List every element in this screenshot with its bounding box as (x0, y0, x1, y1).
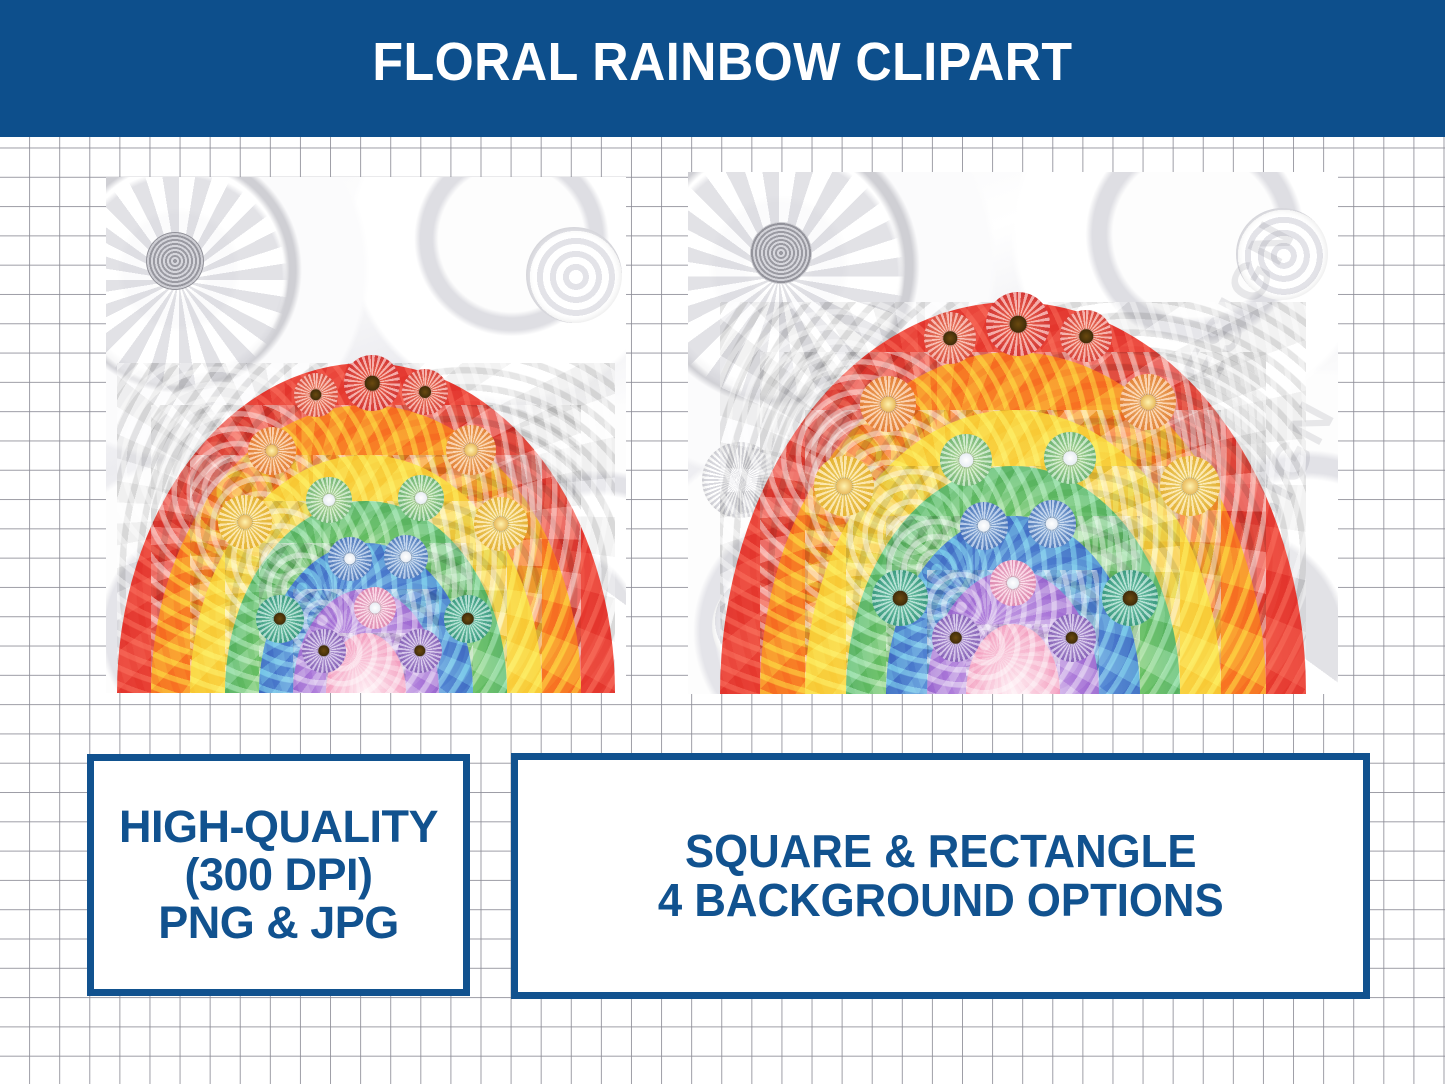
flower-blossom (344, 355, 400, 411)
options-line-1: SQUARE & RECTANGLE (658, 827, 1224, 876)
quality-line-2: (300 DPI) (119, 851, 438, 899)
flower-blossom (384, 535, 428, 579)
flower-blossom (474, 497, 528, 551)
flower-blossom (302, 629, 346, 673)
flower-blossom (960, 502, 1008, 550)
flower-blossom (1048, 614, 1096, 662)
quality-line-3: PNG & JPG (119, 899, 438, 947)
square-preview-image[interactable] (106, 177, 626, 693)
flower-blossom (814, 456, 874, 516)
flower-blossom (402, 369, 448, 415)
flower-blossom (990, 560, 1036, 606)
flower-blossom (328, 537, 372, 581)
flower-blossom (294, 373, 338, 417)
options-text-block: SQUARE & RECTANGLE 4 BACKGROUND OPTIONS (658, 827, 1224, 925)
flower-blossom (932, 614, 980, 662)
flower-blossom (872, 570, 928, 626)
flower-blossom (398, 475, 444, 521)
flower-blossom (1028, 500, 1076, 548)
flower-blossom (1120, 374, 1176, 430)
flower-blossom (306, 477, 352, 523)
feature-box-options: SQUARE & RECTANGLE 4 BACKGROUND OPTIONS (511, 753, 1370, 999)
rectangle-preview-image[interactable]: DESIGN DESIGN (688, 172, 1338, 694)
quality-line-1: HIGH-QUALITY (119, 803, 438, 851)
flower-blossom (1044, 432, 1096, 484)
flower-blossom (248, 427, 296, 475)
flower-blossom (444, 595, 492, 643)
quality-text-block: HIGH-QUALITY (300 DPI) PNG & JPG (119, 803, 438, 946)
flower-blossom (1060, 310, 1112, 362)
flower-blossom (398, 629, 442, 673)
rainbow-arch-rectangle (688, 172, 1338, 694)
flower-blossom (354, 587, 396, 629)
rainbow-arch-square (106, 177, 626, 693)
flower-blossom (924, 312, 976, 364)
flower-blossom (256, 595, 304, 643)
flower-blossom (446, 425, 496, 475)
options-line-2: 4 BACKGROUND OPTIONS (658, 876, 1224, 925)
feature-box-quality: HIGH-QUALITY (300 DPI) PNG & JPG (87, 754, 470, 996)
flower-blossom (860, 376, 916, 432)
page-title: FLORAL RAINBOW CLIPART (372, 35, 1072, 89)
rainbow-band-pink (966, 624, 1060, 694)
flower-blossom (218, 495, 272, 549)
flower-blossom (940, 434, 992, 486)
flower-blossom (1160, 456, 1220, 516)
flower-blossom (986, 292, 1050, 356)
header-banner: FLORAL RAINBOW CLIPART (0, 0, 1445, 137)
flower-blossom (1102, 570, 1158, 626)
